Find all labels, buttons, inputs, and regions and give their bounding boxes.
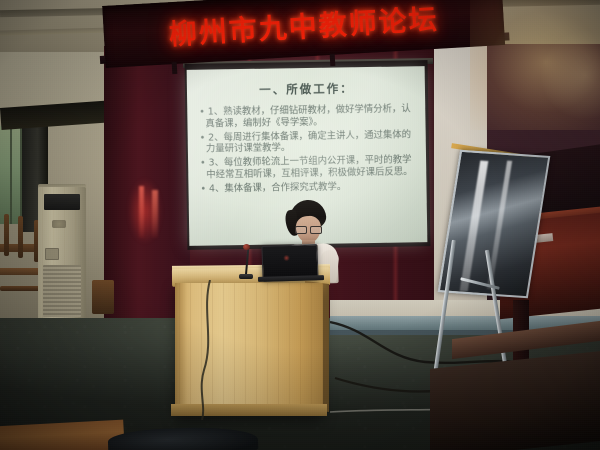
air-conditioner-control-panel[interactable]	[45, 248, 59, 260]
presenter-glasses	[295, 226, 321, 232]
foreground-desk	[430, 351, 600, 450]
slide-bullet: 1、熟读教材，仔细钻研教材，做好学情分析，认真备课，编制好《导学案》。	[197, 103, 416, 130]
slide-bullet: 2、每周进行集体备课，确定主讲人，通过集体的力量研讨课堂教学。	[198, 129, 417, 156]
air-conditioner-vent-grille	[44, 194, 80, 210]
air-conditioner-louvers	[43, 265, 81, 317]
presentation-photo: 一、所做工作： 1、熟读教材，仔细钻研教材，做好学情分析，认真备课，编制好《导学…	[0, 0, 600, 450]
slide-title: 一、所做工作：	[197, 79, 416, 98]
air-conditioner-logo	[52, 220, 66, 228]
window-mullion	[10, 126, 12, 224]
laptop-screen-glint	[283, 255, 290, 261]
banner-bracket	[330, 54, 336, 66]
side-table	[0, 268, 40, 275]
chair	[92, 280, 114, 314]
led-banner-text: 柳州市九中教师论坛	[168, 0, 440, 53]
microphone-head[interactable]	[243, 244, 250, 250]
curtain-light-streak	[139, 186, 144, 238]
microphone-base	[239, 274, 253, 279]
podium-edge-shadow	[175, 283, 187, 416]
chair	[0, 286, 40, 291]
foreground-table	[0, 420, 125, 450]
slide-bullet: 3、每位教师轮流上一节组内公开课，平时的教学中经常互相听课，互相评课，积极做好课…	[198, 155, 417, 182]
chair	[18, 216, 23, 258]
chair	[4, 214, 9, 256]
slide-bullet-list: 1、熟读教材，仔细钻研教材，做好学情分析，认真备课，编制好《导学案》。 2、每周…	[197, 103, 417, 195]
podium-cable	[192, 280, 232, 420]
slide-bullet: 4、集体备课，合作探究式教学。	[198, 180, 417, 195]
banner-bracket	[172, 62, 178, 74]
curtain-light-streak	[152, 190, 158, 238]
